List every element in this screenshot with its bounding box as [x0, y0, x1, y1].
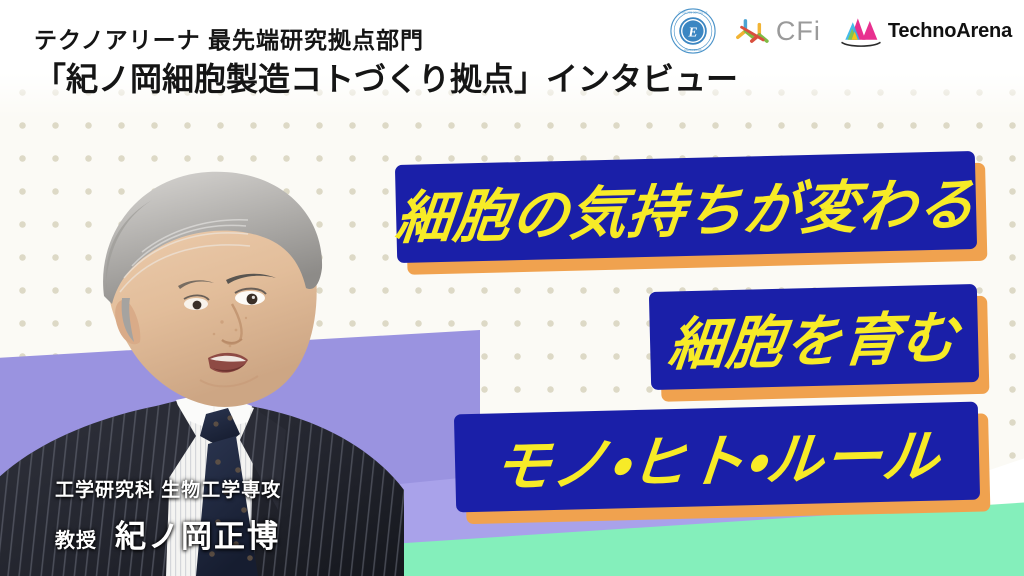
speaker-rank: 教授: [55, 524, 97, 556]
header-main-title: 「紀ノ岡細胞製造コトづくり拠点」インタビュー: [34, 59, 738, 101]
cfi-mark-icon: [734, 12, 772, 50]
technoarena-logo-text: TechnoArena: [888, 20, 1012, 43]
thumbnail-canvas: テクノアリーナ 最先端研究拠点部門 「紀ノ岡細胞製造コトづくり拠点」インタビュー…: [0, 0, 1024, 576]
speaker-affiliation: 工学研究科 生物工学専攻: [55, 478, 281, 505]
cfi-logo-text: CFi: [776, 16, 821, 47]
svg-text:E: E: [687, 25, 697, 40]
speaker-name-row: 教授 紀ノ岡正博: [55, 511, 281, 556]
header-subtitle: テクノアリーナ 最先端研究拠点部門: [34, 26, 738, 55]
banner-text: 細胞の気持ちが変わる: [392, 159, 980, 255]
technoarena-logo: TechnoArena: [839, 12, 1012, 50]
banner-plate: モノ・ヒト・ルール: [454, 402, 980, 513]
banner-text: 細胞を育む: [665, 292, 963, 381]
osaka-university-engineering-seal-icon: E GRADUATE SCHOOL OF ENGINEERING: [670, 8, 716, 54]
header-title-block: テクノアリーナ 最先端研究拠点部門 「紀ノ岡細胞製造コトづくり拠点」インタビュー: [34, 26, 738, 100]
speaker-caption: 工学研究科 生物工学専攻 教授 紀ノ岡正博: [55, 478, 281, 556]
headline-banner-1: 細胞の気持ちが変わる: [395, 151, 977, 263]
headline-banner-3: モノ・ヒト・ルール: [454, 402, 980, 513]
svg-text:ENGINEERING: ENGINEERING: [684, 49, 701, 52]
logo-bar: E GRADUATE SCHOOL OF ENGINEERING: [670, 8, 1012, 54]
svg-text:GRADUATE SCHOOL OF: GRADUATE SCHOOL OF: [679, 12, 708, 15]
cfi-logo: CFi: [734, 12, 821, 50]
banner-plate: 細胞の気持ちが変わる: [395, 151, 977, 263]
headline-banner-2: 細胞を育む: [649, 284, 979, 390]
banner-text: モノ・ヒト・ルール: [490, 410, 945, 503]
speaker-name: 紀ノ岡正博: [115, 511, 280, 556]
technoarena-mark-icon: [839, 12, 883, 50]
banner-plate: 細胞を育む: [649, 284, 979, 390]
